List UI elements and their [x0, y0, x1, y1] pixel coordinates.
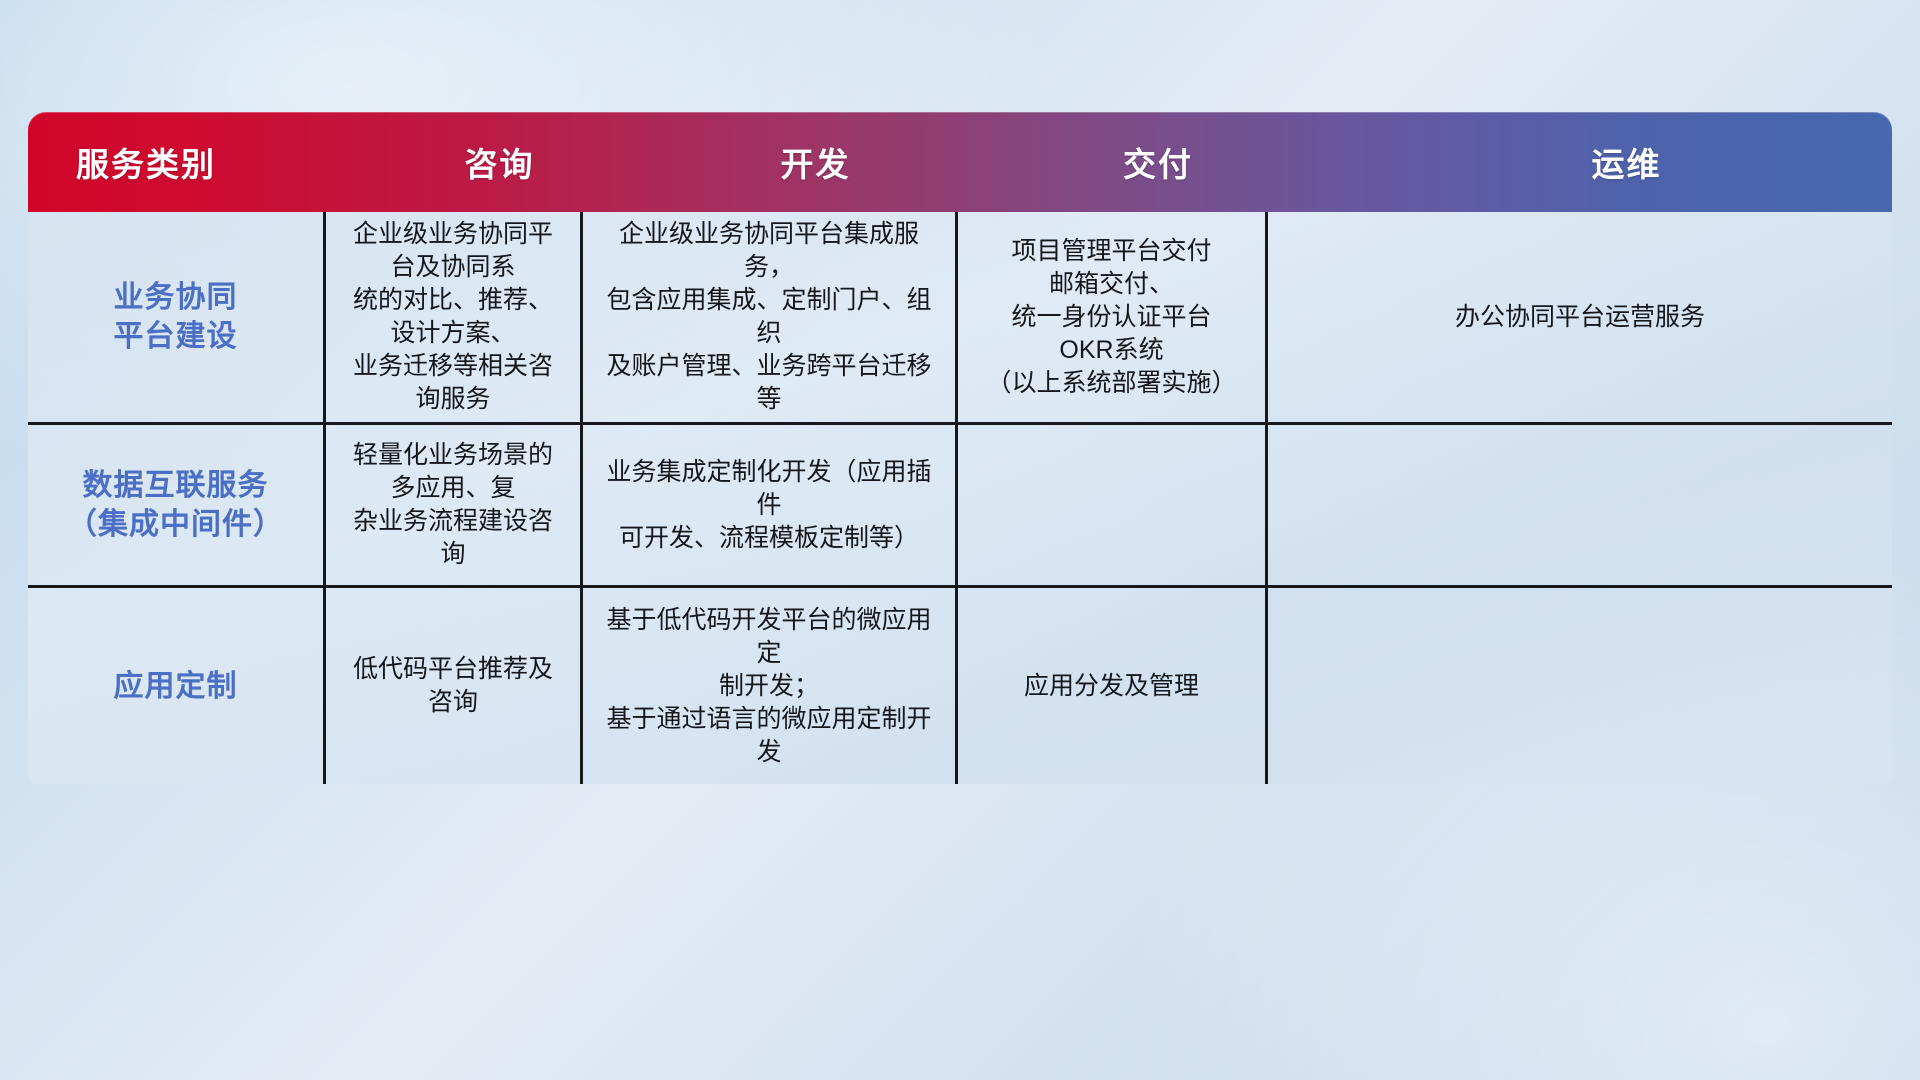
column-header-consulting: 咨询	[371, 112, 628, 212]
table-row: 数据互联服务 （集成中间件） 轻量化业务场景的多应用、复 杂业务流程建设咨询 业…	[28, 422, 1892, 585]
table-body: 业务协同 平台建设 企业级业务协同平台及协同系 统的对比、推荐、设计方案、 业务…	[28, 212, 1892, 784]
cell-delivery: 项目管理平台交付 邮箱交付、 统一身份认证平台 OKR系统 （以上系统部署实施）	[955, 212, 1265, 422]
column-header-development: 开发	[628, 112, 1003, 212]
table-header-row: 服务类别 咨询 开发 交付 运维	[28, 112, 1892, 212]
table-row: 应用定制 低代码平台推荐及咨询 基于低代码开发平台的微应用定 制开发； 基于通过…	[28, 585, 1892, 784]
cell-consulting: 企业级业务协同平台及协同系 统的对比、推荐、设计方案、 业务迁移等相关咨询服务	[323, 212, 580, 422]
column-header-service-category: 服务类别	[28, 112, 371, 212]
cell-consulting: 低代码平台推荐及咨询	[323, 588, 580, 784]
cell-operations	[1265, 588, 1892, 784]
cell-operations: 办公协同平台运营服务	[1265, 212, 1892, 422]
cell-development: 企业级业务协同平台集成服务， 包含应用集成、定制门户、组织 及账户管理、业务跨平…	[580, 212, 955, 422]
column-header-operations: 运维	[1313, 112, 1892, 212]
cell-development: 基于低代码开发平台的微应用定 制开发； 基于通过语言的微应用定制开发	[580, 588, 955, 784]
table-row: 业务协同 平台建设 企业级业务协同平台及协同系 统的对比、推荐、设计方案、 业务…	[28, 212, 1892, 422]
cell-category: 业务协同 平台建设	[28, 212, 323, 422]
cell-consulting: 轻量化业务场景的多应用、复 杂业务流程建设咨询	[323, 425, 580, 585]
cell-operations	[1265, 425, 1892, 585]
cell-category: 应用定制	[28, 588, 323, 784]
column-header-delivery: 交付	[1003, 112, 1313, 212]
cell-delivery: 应用分发及管理	[955, 588, 1265, 784]
cell-delivery	[955, 425, 1265, 585]
slide-canvas: 服务类别 咨询 开发 交付 运维 业务协同 平台建设 企业级业务协同平台及协同系…	[0, 0, 1920, 1080]
cell-development: 业务集成定制化开发（应用插件 可开发、流程模板定制等）	[580, 425, 955, 585]
cell-category: 数据互联服务 （集成中间件）	[28, 425, 323, 585]
service-matrix-table: 服务类别 咨询 开发 交付 运维 业务协同 平台建设 企业级业务协同平台及协同系…	[28, 112, 1892, 952]
